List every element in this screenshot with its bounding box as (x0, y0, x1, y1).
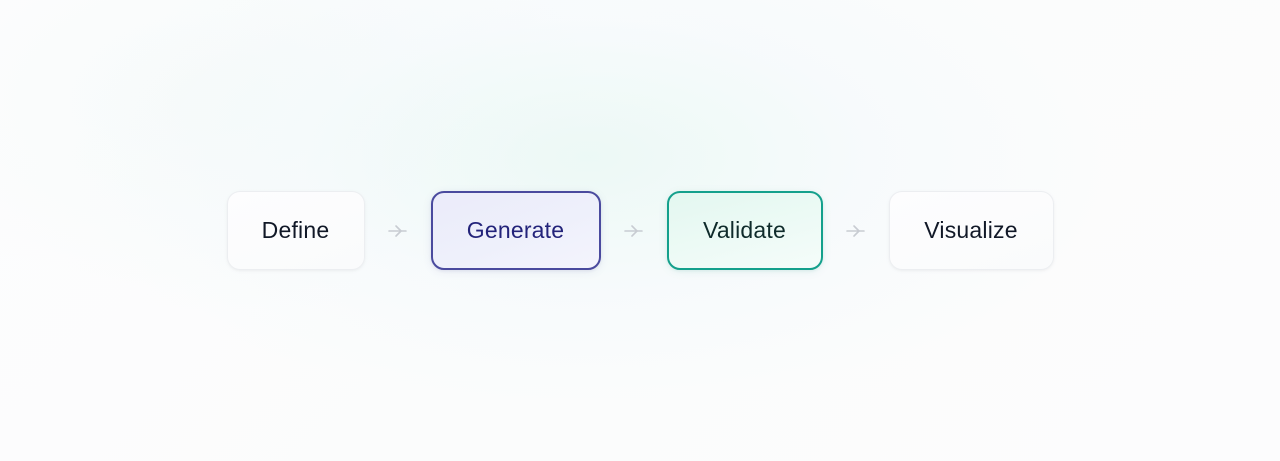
pipeline-step-label: Generate (467, 217, 565, 244)
pipeline-connector-3 (823, 191, 889, 270)
pipeline-step-visualize[interactable]: Visualize (889, 191, 1054, 270)
pipeline-step-define[interactable]: Define (227, 191, 365, 270)
pipeline-step-label: Visualize (924, 217, 1017, 244)
pipeline-connector-1 (365, 191, 431, 270)
pipeline-flow: Define Generate (0, 0, 1280, 461)
arrow-right-icon (386, 223, 410, 239)
pipeline-step-validate[interactable]: Validate (667, 191, 823, 270)
pipeline-connector-2 (601, 191, 667, 270)
pipeline-step-generate[interactable]: Generate (431, 191, 601, 270)
arrow-right-icon (622, 223, 646, 239)
pipeline-step-label: Define (262, 217, 330, 244)
arrow-right-icon (844, 223, 868, 239)
pipeline-step-label: Validate (703, 217, 786, 244)
pipeline-canvas: Define Generate (0, 0, 1280, 461)
